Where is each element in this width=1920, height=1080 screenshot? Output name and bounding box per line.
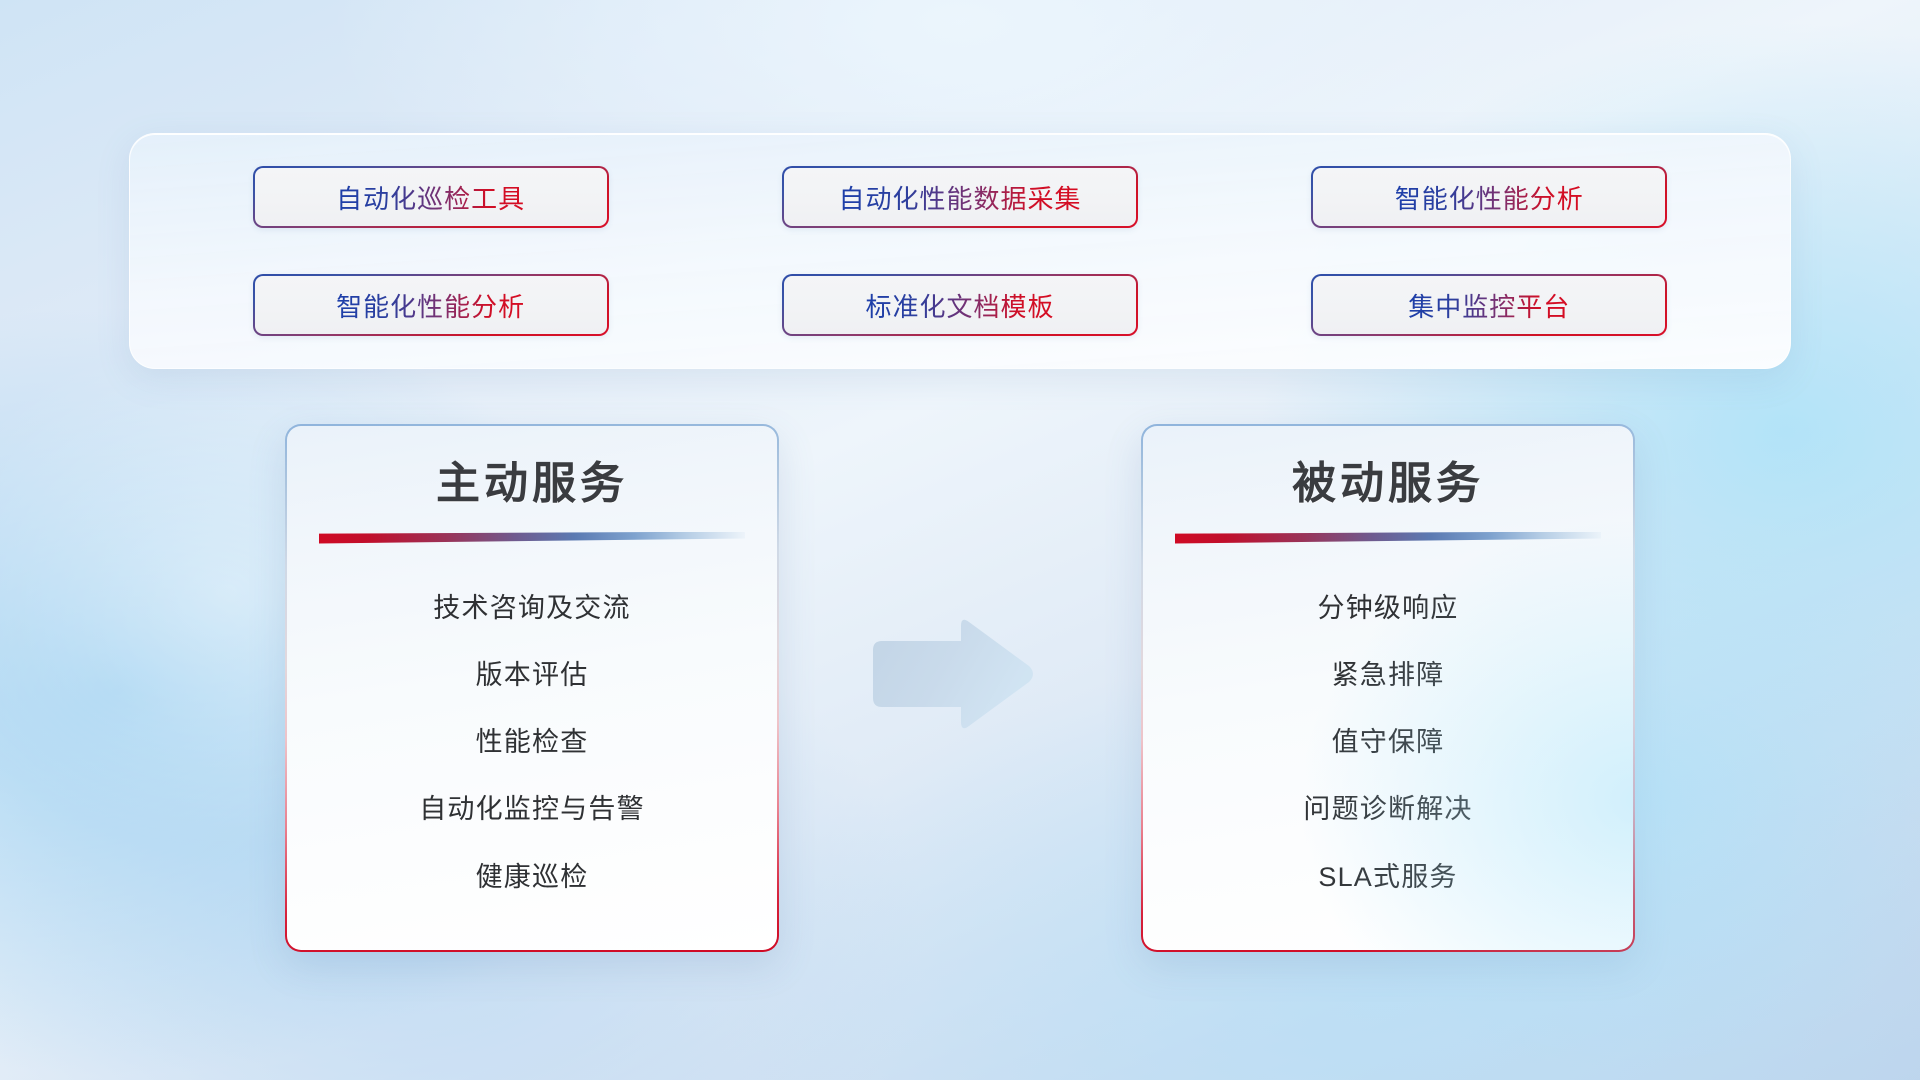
- service-item-list: 技术咨询及交流 版本评估 性能检查 自动化监控与告警 健康巡检: [321, 552, 743, 922]
- service-list-item: 技术咨询及交流: [433, 586, 630, 625]
- service-card-reactive[interactable]: 被动服务 分钟级响应 紧急排障 值守保障 问题诊断解决 SLA式服务: [1141, 424, 1635, 952]
- service-list-item: 值守保障: [1332, 720, 1445, 759]
- arrow-right-icon: [865, 614, 1037, 734]
- capability-chip[interactable]: 标准化文档模板: [782, 274, 1138, 336]
- capability-chip-label: 自动化性能数据采集: [838, 179, 1081, 216]
- service-card-surface: 被动服务 分钟级响应 紧急排障 值守保障 问题诊断解决 SLA式服务: [1143, 426, 1633, 950]
- capability-chip-surface: 智能化性能分析: [255, 276, 607, 334]
- capability-chip[interactable]: 集中监控平台: [1311, 274, 1667, 336]
- capability-chip-surface: 集中监控平台: [1313, 276, 1665, 334]
- capability-panel: 自动化巡检工具 自动化性能数据采集 智能化性能分析 智能化性能分析 标准化文档模…: [129, 133, 1791, 369]
- capability-chip-surface: 标准化文档模板: [784, 276, 1136, 334]
- service-list-item: 版本评估: [476, 653, 589, 692]
- service-item-list: 分钟级响应 紧急排障 值守保障 问题诊断解决 SLA式服务: [1177, 552, 1599, 922]
- capability-chip-surface: 自动化性能数据采集: [784, 168, 1136, 226]
- flow-connector: [865, 614, 1037, 734]
- service-list-item: SLA式服务: [1318, 855, 1457, 894]
- capability-chip-surface: 自动化巡检工具: [255, 168, 607, 226]
- capability-chip-label: 智能化性能分析: [1395, 179, 1584, 216]
- service-list-item: 问题诊断解决: [1303, 787, 1472, 826]
- title-divider: [319, 532, 745, 544]
- capability-chip[interactable]: 智能化性能分析: [253, 274, 609, 336]
- title-divider: [1175, 532, 1601, 544]
- capability-chip-label: 集中监控平台: [1408, 287, 1570, 324]
- service-card-proactive[interactable]: 主动服务 技术咨询及交流 版本评估 性能检查 自动化监控与告警 健康巡检: [285, 424, 779, 952]
- capability-chip-surface: 智能化性能分析: [1313, 168, 1665, 226]
- capability-chip[interactable]: 自动化巡检工具: [253, 166, 609, 228]
- capability-chip[interactable]: 自动化性能数据采集: [782, 166, 1138, 228]
- service-list-item: 性能检查: [476, 720, 589, 759]
- capability-chip-label: 智能化性能分析: [336, 287, 525, 324]
- service-list-item: 分钟级响应: [1318, 586, 1459, 625]
- capability-chip[interactable]: 智能化性能分析: [1311, 166, 1667, 228]
- service-card-surface: 主动服务 技术咨询及交流 版本评估 性能检查 自动化监控与告警 健康巡检: [287, 426, 777, 950]
- slide-canvas: 自动化巡检工具 自动化性能数据采集 智能化性能分析 智能化性能分析 标准化文档模…: [0, 0, 1920, 1080]
- capability-chip-label: 标准化文档模板: [865, 287, 1054, 324]
- capability-chip-label: 自动化巡检工具: [336, 179, 525, 216]
- service-list-item: 健康巡检: [476, 855, 589, 894]
- service-list-item: 紧急排障: [1332, 653, 1445, 692]
- service-card-title: 被动服务: [1292, 460, 1484, 508]
- service-card-title: 主动服务: [436, 460, 628, 508]
- service-list-item: 自动化监控与告警: [419, 787, 645, 826]
